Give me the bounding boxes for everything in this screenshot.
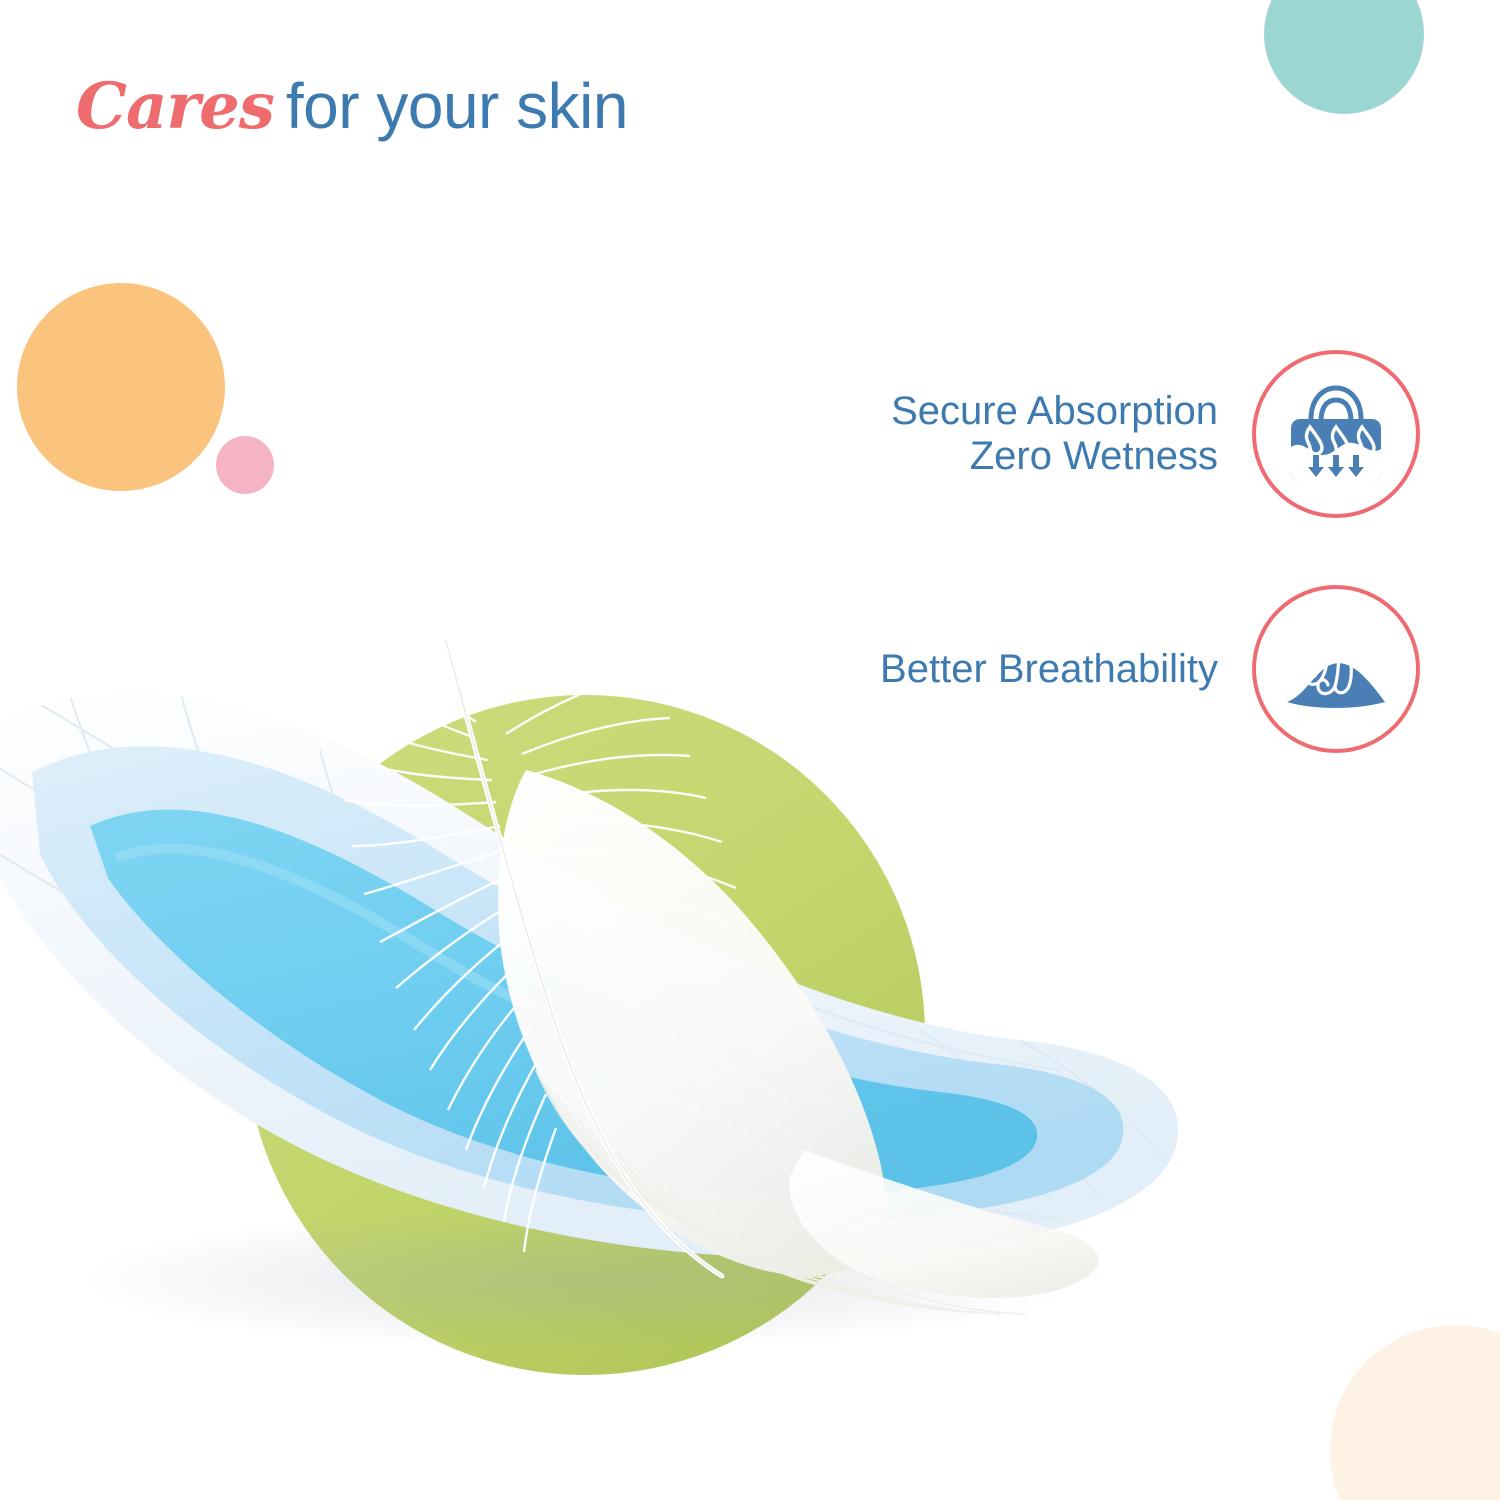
- padlock-droplets-icon: [1277, 375, 1395, 493]
- product-illustration: [0, 640, 1340, 1460]
- padlock-droplets-icon-badge: [1252, 350, 1420, 518]
- feature-label-better-breathability: Better Breathability: [880, 647, 1218, 692]
- breathable-fabric-airflow-icon-badge: [1252, 585, 1420, 753]
- headline-emphasis-word: Cares: [76, 69, 274, 144]
- pink-circle-decoration: [216, 436, 274, 494]
- feature-label-secure-absorption: Secure Absorption Zero Wetness: [891, 389, 1218, 479]
- product-feature-banner: Caresfor your skin: [0, 0, 1500, 1500]
- feature-line-1: Better Breathability: [880, 647, 1218, 692]
- feature-line-2: Zero Wetness: [891, 434, 1218, 479]
- feature-line-1: Secure Absorption: [891, 389, 1218, 434]
- cream-circle-decoration: [1330, 1325, 1500, 1500]
- page-title: Caresfor your skin: [76, 74, 628, 139]
- breathable-fabric-airflow-icon: [1277, 610, 1395, 728]
- feature-better-breathability: Better Breathability: [700, 585, 1420, 753]
- feature-secure-absorption: Secure Absorption Zero Wetness: [700, 350, 1420, 518]
- headline-rest-text: for your skin: [286, 70, 628, 142]
- orange-circle-decoration: [17, 283, 225, 491]
- teal-circle-decoration: [1264, 0, 1424, 114]
